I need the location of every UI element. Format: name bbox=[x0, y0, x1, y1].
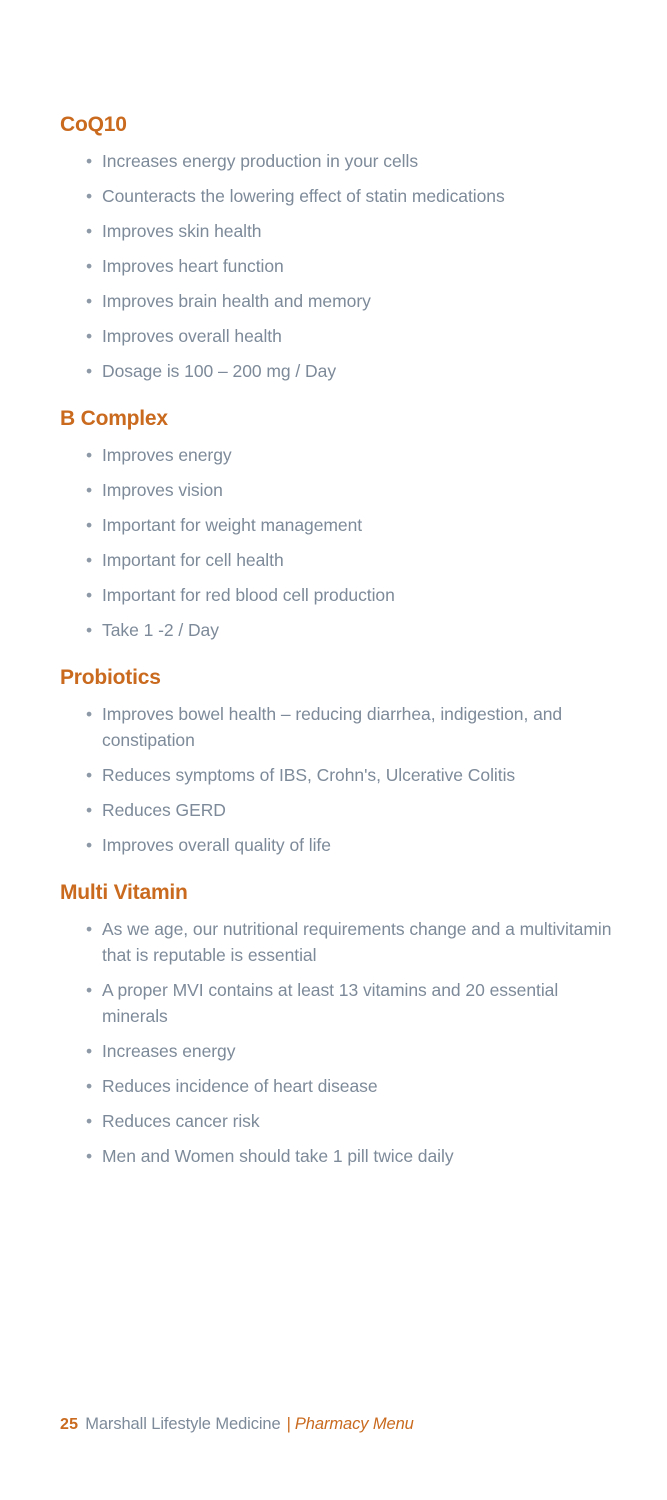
list-item-text: Men and Women should take 1 pill twice d… bbox=[102, 1146, 454, 1166]
list-item: • Reduces cancer risk bbox=[60, 1108, 616, 1134]
list-item: • Important for cell health bbox=[60, 547, 572, 573]
list-item: • Improves bowel health – reducing diarr… bbox=[60, 701, 616, 753]
footer-separator: | bbox=[287, 1415, 291, 1433]
list-item: • Important for weight management bbox=[60, 512, 572, 538]
list-item-text: Increases energy bbox=[102, 1041, 235, 1061]
section-heading-b-complex: B Complex bbox=[60, 406, 616, 432]
list-item: • Improves energy bbox=[60, 442, 572, 468]
list-item-text: Improves bowel health – reducing diarrhe… bbox=[102, 704, 562, 750]
document-page: CoQ10 • Increases energy production in y… bbox=[0, 0, 667, 1500]
bullet-dot-icon: • bbox=[86, 1143, 92, 1169]
bullet-dot-icon: • bbox=[86, 762, 92, 788]
list-item-text: Improves overall quality of life bbox=[102, 835, 331, 855]
list-item: • Reduces symptoms of IBS, Crohn's, Ulce… bbox=[60, 762, 616, 788]
list-item-text: Important for red blood cell production bbox=[102, 585, 395, 605]
list-item: • Improves brain health and memory bbox=[60, 288, 572, 314]
bullet-dot-icon: • bbox=[86, 218, 92, 244]
bullet-dot-icon: • bbox=[86, 323, 92, 349]
bullet-dot-icon: • bbox=[86, 701, 92, 727]
section-probiotics: Probiotics • Improves bowel health – red… bbox=[60, 665, 616, 858]
bullet-dot-icon: • bbox=[86, 832, 92, 858]
section-multi-vitamin: Multi Vitamin • As we age, our nutrition… bbox=[60, 880, 616, 1169]
bullet-dot-icon: • bbox=[86, 288, 92, 314]
list-item: • Men and Women should take 1 pill twice… bbox=[60, 1143, 616, 1169]
bullet-dot-icon: • bbox=[86, 617, 92, 643]
section-b-complex: B Complex • Improves energy • Improves v… bbox=[60, 406, 616, 643]
list-item: • Improves vision bbox=[60, 477, 572, 503]
list-item-text: A proper MVI contains at least 13 vitami… bbox=[102, 980, 558, 1026]
list-item: • Improves overall health bbox=[60, 323, 572, 349]
list-item-text: Reduces GERD bbox=[102, 800, 226, 820]
list-item-text: Reduces incidence of heart disease bbox=[102, 1076, 378, 1096]
list-item: • Improves skin health bbox=[60, 218, 572, 244]
bullet-dot-icon: • bbox=[86, 358, 92, 384]
bullet-dot-icon: • bbox=[86, 1038, 92, 1064]
bullet-dot-icon: • bbox=[86, 477, 92, 503]
list-item-text: Take 1 -2 / Day bbox=[102, 620, 219, 640]
list-item-text: Improves brain health and memory bbox=[102, 291, 371, 311]
bullet-dot-icon: • bbox=[86, 797, 92, 823]
page-number: 25 bbox=[60, 1416, 78, 1433]
list-item: • Increases energy production in your ce… bbox=[60, 148, 572, 174]
list-item: • Increases energy bbox=[60, 1038, 616, 1064]
list-item: • Counteracts the lowering effect of sta… bbox=[60, 183, 572, 209]
list-item: • Reduces incidence of heart disease bbox=[60, 1073, 616, 1099]
bullet-dot-icon: • bbox=[86, 977, 92, 1003]
bullet-list-multi-vitamin: • As we age, our nutritional requirement… bbox=[60, 916, 616, 1169]
list-item-text: Important for weight management bbox=[102, 515, 362, 535]
list-item-text: Improves vision bbox=[102, 480, 223, 500]
bullet-dot-icon: • bbox=[86, 253, 92, 279]
section-heading-probiotics: Probiotics bbox=[60, 665, 616, 691]
bullet-dot-icon: • bbox=[86, 916, 92, 942]
list-item-text: Reduces symptoms of IBS, Crohn's, Ulcera… bbox=[102, 765, 515, 785]
list-item-text: Reduces cancer risk bbox=[102, 1111, 260, 1131]
list-item: • Improves heart function bbox=[60, 253, 572, 279]
list-item-text: Important for cell health bbox=[102, 550, 284, 570]
bullet-list-probiotics: • Improves bowel health – reducing diarr… bbox=[60, 701, 616, 858]
list-item: • As we age, our nutritional requirement… bbox=[60, 916, 616, 968]
list-item: • A proper MVI contains at least 13 vita… bbox=[60, 977, 616, 1029]
bullet-dot-icon: • bbox=[86, 1108, 92, 1134]
list-item: • Reduces GERD bbox=[60, 797, 616, 823]
bullet-dot-icon: • bbox=[86, 1073, 92, 1099]
list-item-text: Improves overall health bbox=[102, 326, 282, 346]
list-item: • Important for red blood cell productio… bbox=[60, 582, 572, 608]
bullet-dot-icon: • bbox=[86, 547, 92, 573]
bullet-dot-icon: • bbox=[86, 512, 92, 538]
section-heading-multi-vitamin: Multi Vitamin bbox=[60, 880, 616, 906]
footer-document-title: Pharmacy Menu bbox=[295, 1415, 414, 1433]
bullet-dot-icon: • bbox=[86, 582, 92, 608]
bullet-list-b-complex: • Improves energy • Improves vision • Im… bbox=[60, 442, 616, 643]
list-item-text: Improves energy bbox=[102, 445, 232, 465]
page-footer: 25Marshall Lifestyle Medicine|Pharmacy M… bbox=[60, 1415, 414, 1434]
list-item: • Take 1 -2 / Day bbox=[60, 617, 572, 643]
section-heading-coq10: CoQ10 bbox=[60, 112, 616, 138]
section-coq10: CoQ10 • Increases energy production in y… bbox=[60, 112, 616, 384]
bullet-dot-icon: • bbox=[86, 183, 92, 209]
list-item: • Dosage is 100 – 200 mg / Day bbox=[60, 358, 572, 384]
list-item-text: Counteracts the lowering effect of stati… bbox=[102, 186, 505, 206]
footer-organization-name: Marshall Lifestyle Medicine bbox=[85, 1415, 280, 1433]
list-item: • Improves overall quality of life bbox=[60, 832, 616, 858]
list-item-text: Improves heart function bbox=[102, 256, 284, 276]
list-item-text: Improves skin health bbox=[102, 221, 262, 241]
page-content: CoQ10 • Increases energy production in y… bbox=[60, 112, 616, 1191]
list-item-text: As we age, our nutritional requirements … bbox=[102, 919, 611, 965]
bullet-list-coq10: • Increases energy production in your ce… bbox=[60, 148, 616, 384]
bullet-dot-icon: • bbox=[86, 442, 92, 468]
bullet-dot-icon: • bbox=[86, 148, 92, 174]
list-item-text: Increases energy production in your cell… bbox=[102, 151, 418, 171]
list-item-text: Dosage is 100 – 200 mg / Day bbox=[102, 361, 336, 381]
